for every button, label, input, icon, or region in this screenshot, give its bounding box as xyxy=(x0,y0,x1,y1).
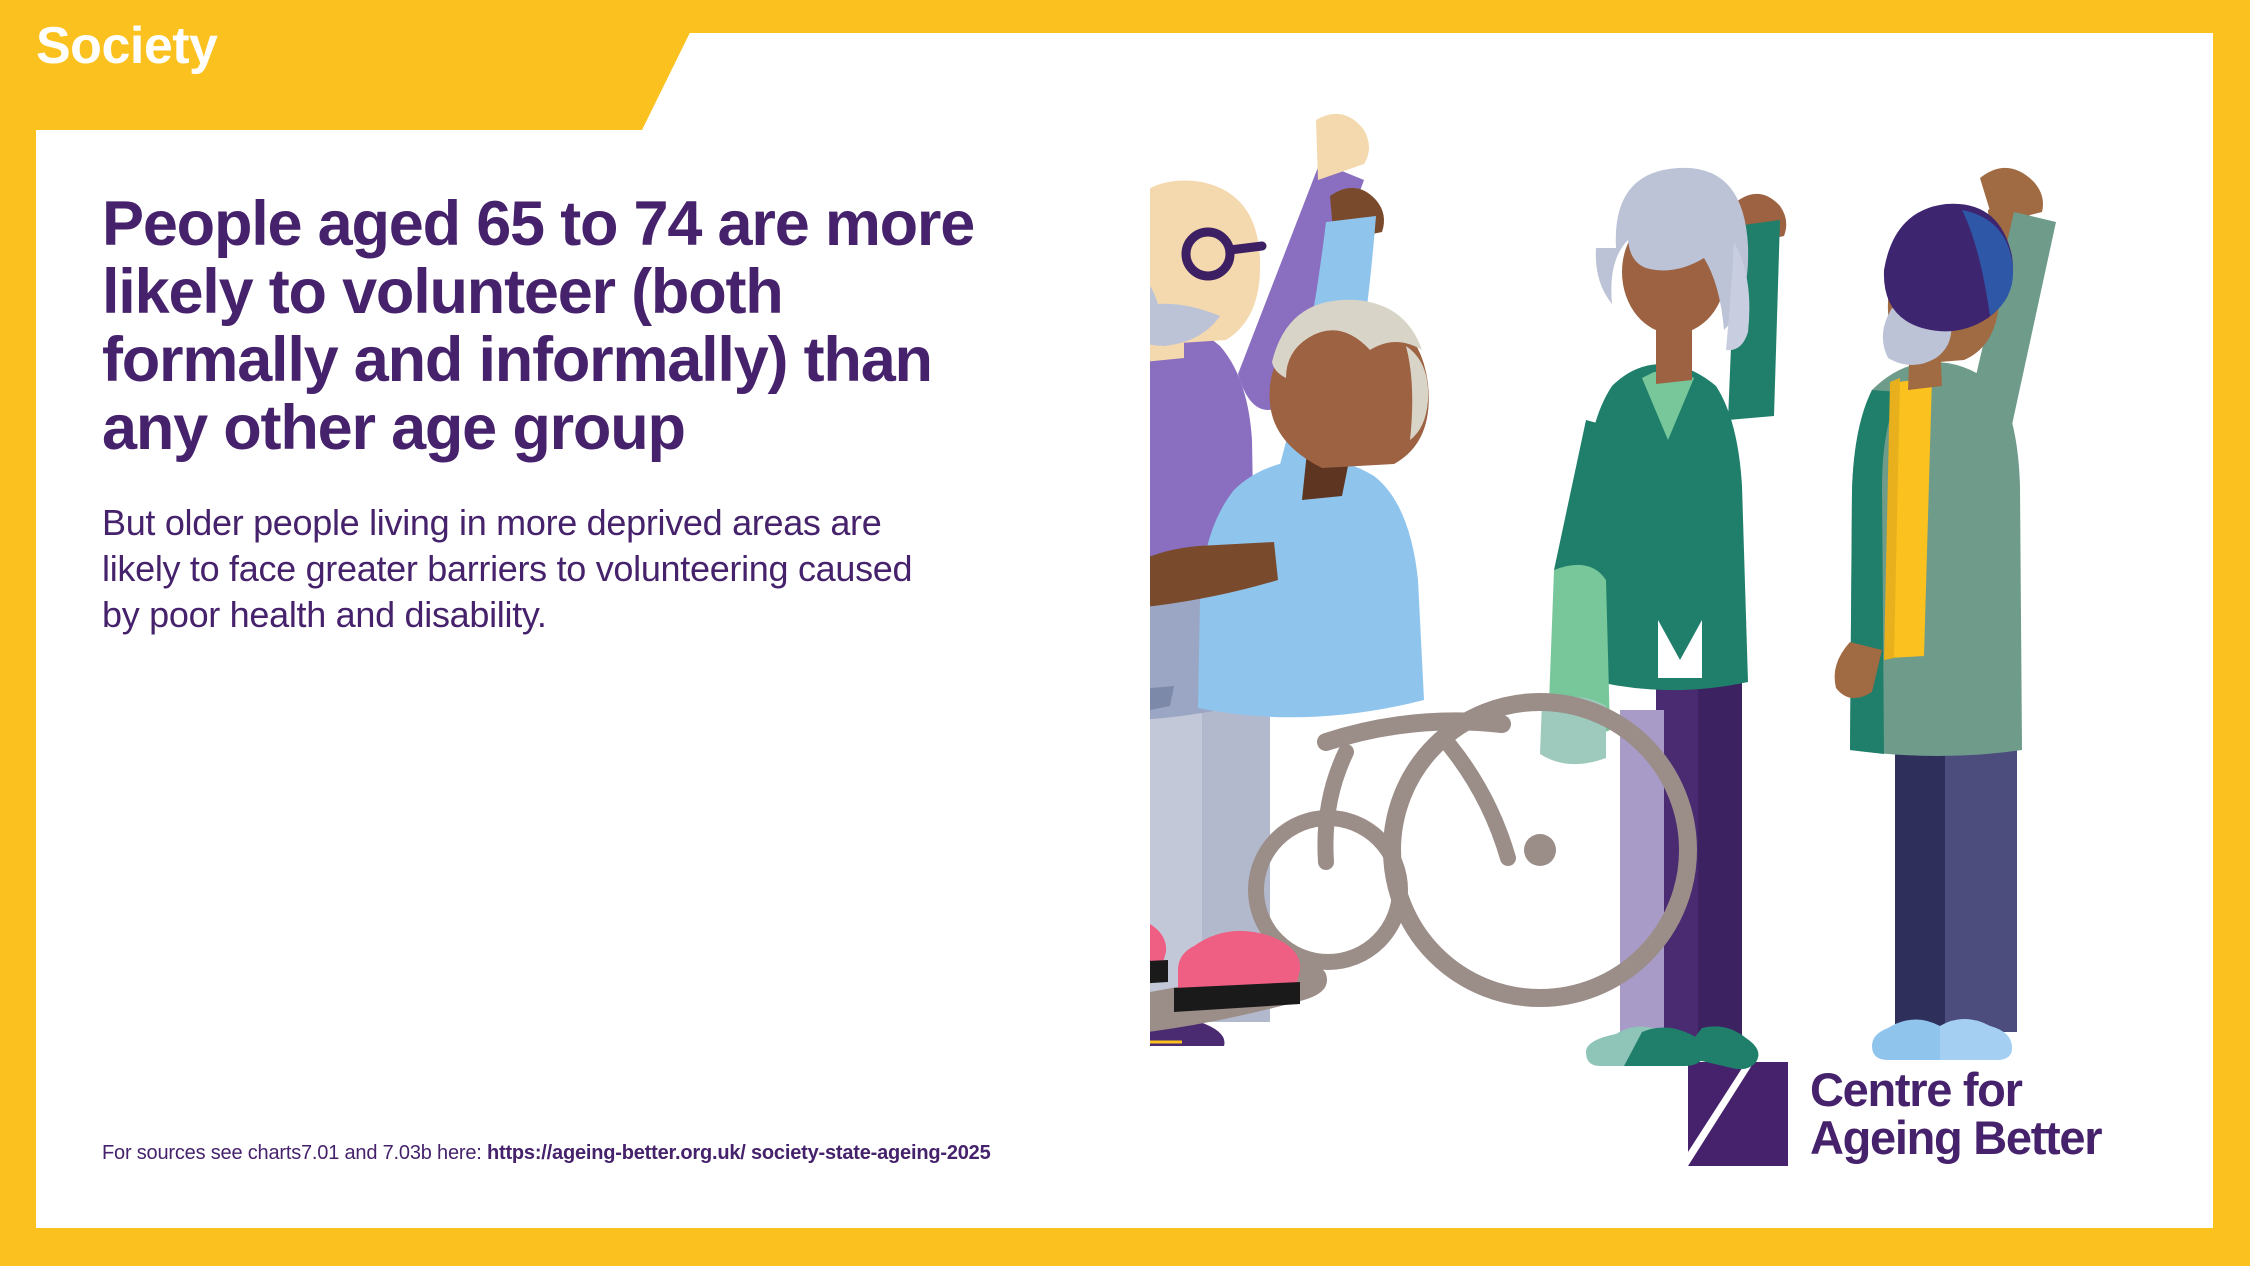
category-label: Society xyxy=(36,18,217,75)
source-url-link[interactable]: https://ageing-better.org.uk/ society-st… xyxy=(487,1142,991,1164)
logo-line-2: Ageing Better xyxy=(1810,1114,2101,1162)
category-header-band: Society xyxy=(0,0,706,130)
source-prefix-text: For sources see charts7.01 and 7.03b her… xyxy=(102,1142,487,1164)
text-column: People aged 65 to 74 are more likely to … xyxy=(102,190,982,638)
page-title: People aged 65 to 74 are more likely to … xyxy=(102,190,982,462)
subheading-text: But older people living in more deprived… xyxy=(102,500,922,638)
infographic-poster: Society People aged 65 to 74 are more li… xyxy=(0,0,2250,1266)
source-note: For sources see charts7.01 and 7.03b her… xyxy=(102,1142,991,1165)
illustration-svg xyxy=(1150,90,2170,1090)
illustration-four-older-people-raising-hands xyxy=(1150,90,2170,1090)
figure-man-with-turban xyxy=(1835,168,2056,1060)
